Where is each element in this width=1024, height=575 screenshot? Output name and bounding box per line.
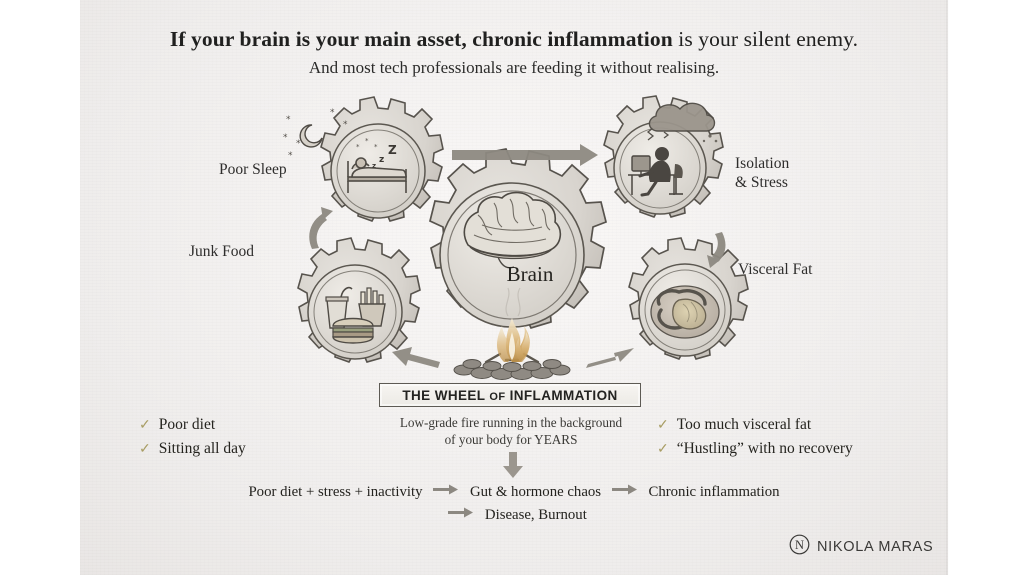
arrow-head-junkfood-to-sleep [321,207,333,220]
list-item: ✓ “Hustling” with no recovery [657,437,853,461]
checklist-right: ✓ Too much visceral fat ✓ “Hustling” wit… [657,413,853,462]
svg-text:N: N [795,538,804,552]
banner-text-part1: THE WHEEL [402,388,489,403]
svg-text:*: * [288,151,293,161]
banner-text-part2: INFLAMMATION [505,388,617,403]
svg-text:Z: Z [388,143,397,157]
flow-step-3: Chronic inflammation [648,484,779,500]
svg-text:*: * [356,143,360,151]
flow-arrow-icon [612,480,638,502]
flow-step-1: Poor diet + stress + inactivity [248,484,422,500]
gear-label-junk-food: Junk Food [189,243,254,262]
banner-text: THE WHEEL OF INFLAMMATION [402,388,617,403]
infographic-canvas: If your brain is your main asset, chroni… [0,0,1024,575]
svg-text:*: * [296,139,301,149]
svg-text:z: z [379,155,384,165]
flow-step-4: Disease, Burnout [485,507,587,523]
gear-brain [430,149,606,328]
check-icon: ✓ [139,443,151,457]
gear-visceral-fat [629,238,748,359]
svg-text:*: * [330,108,335,118]
arrow-fire-to-fat [586,348,634,368]
crescent-moon-icon [300,125,322,147]
check-label: Sitting all day [159,437,246,461]
signature: N NIKOLA MARAS [789,534,933,560]
svg-text:*: * [374,143,378,151]
flow-arrow-icon [448,503,474,525]
check-icon: ✓ [139,419,151,433]
gear-label-visceral-fat: Visceral Fat [738,261,812,280]
banner-caption-line1: Low-grade fire running in the background [400,415,622,430]
list-item: ✓ Sitting all day [139,437,246,461]
monogram-logo-icon: N [789,534,810,560]
check-label: “Hustling” with no recovery [677,437,853,461]
arrow-fire-to-junkfood [392,347,440,368]
arrow-down-to-flow [503,452,523,478]
svg-text:z: z [372,162,376,170]
check-label: Too much visceral fat [677,413,812,437]
svg-text:*: * [286,115,291,125]
flow-row-1: Poor diet + stress + inactivity Gut & ho… [90,481,938,504]
flow-row-2: Disease, Burnout [90,504,938,527]
gear-label-brain: Brain [455,262,605,287]
wheel-of-inflammation-banner: THE WHEEL OF INFLAMMATION [379,383,641,407]
arrow-junkfood-to-sleep [309,214,327,249]
svg-text:*: * [365,137,369,145]
svg-text:*: * [283,133,288,143]
gear-junk-food [298,238,420,362]
causal-flow-chain: Poor diet + stress + inactivity Gut & ho… [90,481,938,527]
check-icon: ✓ [657,443,669,457]
signature-name: NIKOLA MARAS [817,539,933,555]
flow-arrow-icon [433,480,459,502]
gear-label-poor-sleep: Poor Sleep [219,161,287,180]
abdominal-organs-icon [651,286,719,338]
gear-label-isolation-stress: Isolation & Stress [735,155,789,193]
banner-caption-line2: of your body for YEARS [445,432,578,447]
check-label: Poor diet [159,413,215,437]
list-item: ✓ Poor diet [139,413,246,437]
flow-step-2: Gut & hormone chaos [470,484,601,500]
banner-text-of: OF [489,391,505,403]
svg-text:*: * [343,120,348,130]
list-item: ✓ Too much visceral fat [657,413,853,437]
check-icon: ✓ [657,419,669,433]
checklist-left: ✓ Poor diet ✓ Sitting all day [139,413,246,462]
gear-poor-sleep: Z z z *** [321,97,443,221]
banner-caption: Low-grade fire running in the background… [370,414,652,449]
